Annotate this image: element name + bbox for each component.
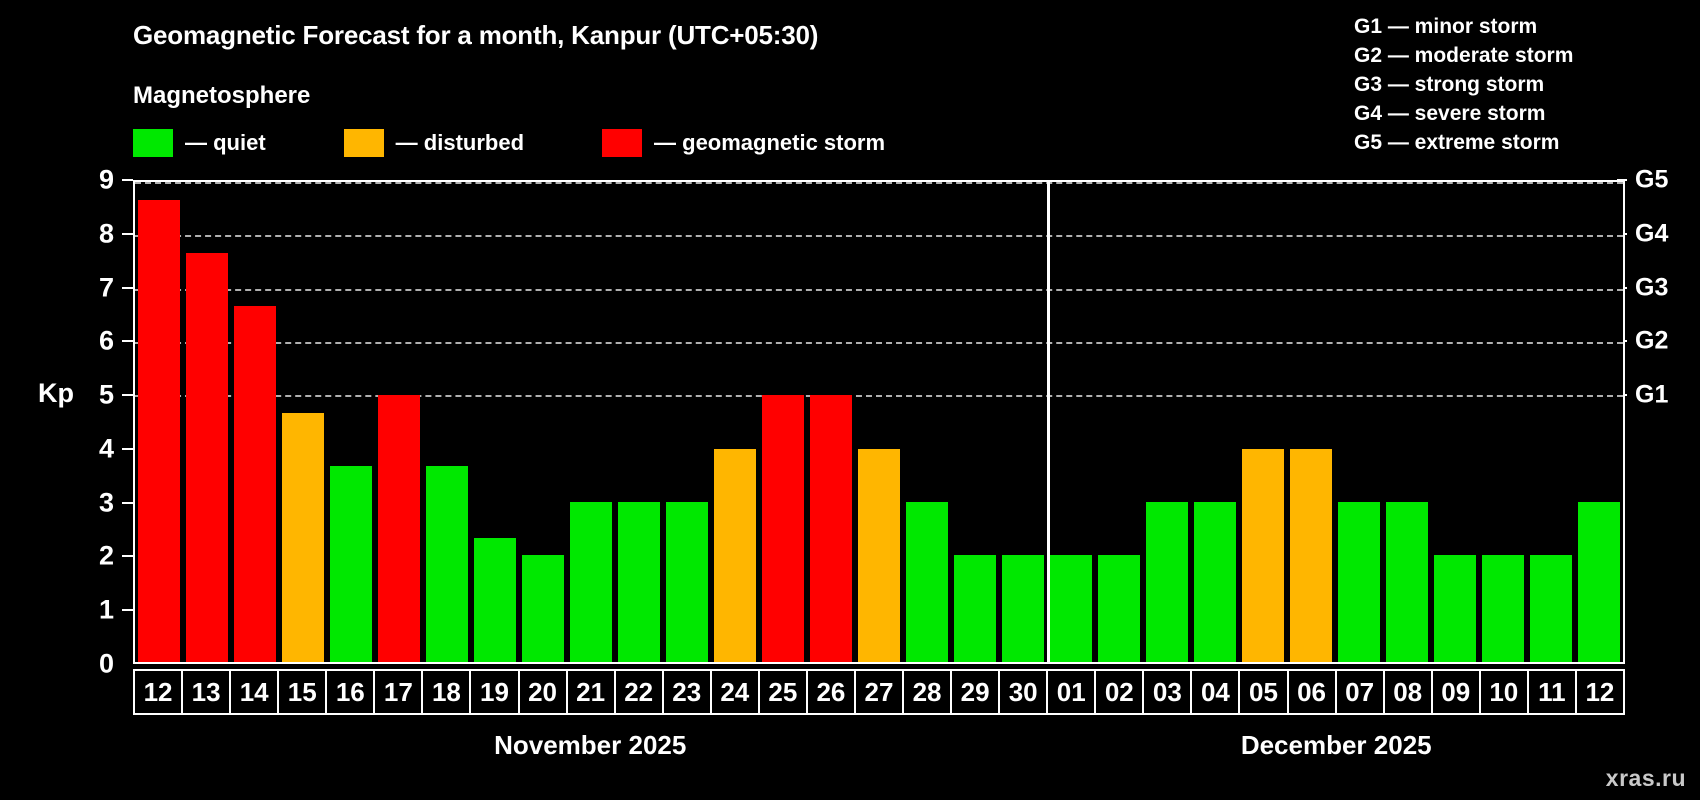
bar-day-23	[666, 502, 708, 662]
bar-slot	[327, 182, 375, 662]
day-label-15: 15	[277, 669, 327, 715]
y-tick-label-8: 8	[99, 220, 114, 247]
month-caption-1: November 2025	[494, 730, 686, 761]
g-tick-label-G5: G5	[1635, 168, 1668, 193]
day-label-09: 09	[1431, 669, 1481, 715]
bar-day-12	[138, 200, 180, 662]
bar-day-24	[714, 449, 756, 662]
quiet-legend-text: — quiet	[185, 130, 266, 156]
g-tick-label-G2: G2	[1635, 329, 1668, 354]
y-tick-mark-4	[122, 448, 133, 450]
bar-slot	[1527, 182, 1575, 662]
bar-slot	[999, 182, 1047, 662]
disturbed-legend-swatch-icon	[344, 129, 384, 157]
bar-day-09	[1434, 555, 1476, 662]
bar-day-16	[330, 466, 372, 662]
bar-slot	[951, 182, 999, 662]
disturbed-legend: — disturbed	[344, 129, 524, 157]
day-label-16: 16	[325, 669, 375, 715]
bar-day-21	[570, 502, 612, 662]
y-axis-title: Kp	[38, 378, 74, 409]
bar-slot	[807, 182, 855, 662]
color-legend: — quiet— disturbed— geomagnetic storm	[133, 128, 885, 158]
g-axis: G1G2G3G4G5	[1627, 180, 1687, 664]
quiet-legend: — quiet	[133, 129, 266, 157]
day-label-27: 27	[854, 669, 904, 715]
magnetosphere-label: Magnetosphere	[133, 82, 310, 110]
day-label-24: 24	[710, 669, 760, 715]
bar-slot	[1431, 182, 1479, 662]
day-label-30: 30	[998, 669, 1048, 715]
day-label-22: 22	[614, 669, 664, 715]
plot-area	[133, 180, 1625, 664]
bar-day-18	[426, 466, 468, 662]
bar-slot	[663, 182, 711, 662]
bar-slot	[903, 182, 951, 662]
day-label-19: 19	[469, 669, 519, 715]
day-label-26: 26	[806, 669, 856, 715]
storm-legend-swatch-icon	[602, 129, 642, 157]
day-label-12: 12	[1575, 669, 1625, 715]
bar-day-04	[1194, 502, 1236, 662]
bar-slot	[759, 182, 807, 662]
bar-slot	[1575, 182, 1623, 662]
g-tick-label-G3: G3	[1635, 275, 1668, 300]
bar-slot	[567, 182, 615, 662]
day-label-13: 13	[181, 669, 231, 715]
day-label-29: 29	[950, 669, 1000, 715]
bar-slot	[375, 182, 423, 662]
y-tick-label-3: 3	[99, 489, 114, 516]
day-label-08: 08	[1383, 669, 1433, 715]
bar-day-08	[1386, 502, 1428, 662]
bar-slot	[1047, 182, 1095, 662]
bar-day-10	[1482, 555, 1524, 662]
bars-layer	[135, 182, 1623, 662]
bar-slot	[519, 182, 567, 662]
bar-day-15	[282, 413, 324, 662]
g-tick-label-G1: G1	[1635, 383, 1668, 408]
day-label-07: 07	[1335, 669, 1385, 715]
day-label-12: 12	[133, 669, 183, 715]
day-label-04: 04	[1190, 669, 1240, 715]
bar-slot	[1335, 182, 1383, 662]
month-divider	[1047, 182, 1050, 662]
y-tick-label-7: 7	[99, 274, 114, 301]
g-scale-line-3: G3 — strong storm	[1354, 70, 1684, 99]
bar-day-11	[1530, 555, 1572, 662]
page-title: Geomagnetic Forecast for a month, Kanpur…	[133, 20, 818, 51]
day-label-20: 20	[518, 669, 568, 715]
y-tick-mark-7	[122, 287, 133, 289]
g-scale-line-5: G5 — extreme storm	[1354, 128, 1684, 157]
bar-day-12	[1578, 502, 1620, 662]
bar-day-28	[906, 502, 948, 662]
month-caption-2: December 2025	[1241, 730, 1432, 761]
g-tick-label-G4: G4	[1635, 221, 1668, 246]
bar-day-02	[1098, 555, 1140, 662]
y-tick-label-2: 2	[99, 543, 114, 570]
bar-day-29	[954, 555, 996, 662]
bar-slot	[1191, 182, 1239, 662]
day-label-18: 18	[421, 669, 471, 715]
bar-day-25	[762, 395, 804, 662]
g-scale-legend: G1 — minor stormG2 — moderate stormG3 — …	[1354, 12, 1684, 157]
y-tick-label-4: 4	[99, 435, 114, 462]
day-axis: 1213141516171819202122232425262728293001…	[133, 669, 1625, 715]
bar-day-30	[1002, 555, 1044, 662]
day-label-06: 06	[1287, 669, 1337, 715]
bar-slot	[1239, 182, 1287, 662]
day-label-28: 28	[902, 669, 952, 715]
y-tick-label-6: 6	[99, 328, 114, 355]
y-tick-mark-9	[122, 179, 133, 181]
bar-day-05	[1242, 449, 1284, 662]
bar-slot	[471, 182, 519, 662]
g-scale-line-2: G2 — moderate storm	[1354, 41, 1684, 70]
day-label-21: 21	[566, 669, 616, 715]
day-label-01: 01	[1046, 669, 1096, 715]
bar-slot	[1287, 182, 1335, 662]
day-label-11: 11	[1527, 669, 1577, 715]
disturbed-legend-text: — disturbed	[396, 130, 524, 156]
plot-inner	[135, 182, 1623, 662]
bar-slot	[183, 182, 231, 662]
day-label-03: 03	[1142, 669, 1192, 715]
bar-slot	[1479, 182, 1527, 662]
day-label-25: 25	[758, 669, 808, 715]
bar-slot	[231, 182, 279, 662]
day-label-14: 14	[229, 669, 279, 715]
y-tick-mark-2	[122, 555, 133, 557]
y-tick-mark-3	[122, 502, 133, 504]
g-scale-line-4: G4 — severe storm	[1354, 99, 1684, 128]
bar-slot	[1143, 182, 1191, 662]
day-label-05: 05	[1238, 669, 1288, 715]
y-tick-label-0: 0	[99, 651, 114, 678]
storm-legend: — geomagnetic storm	[602, 129, 885, 157]
quiet-legend-swatch-icon	[133, 129, 173, 157]
bar-day-07	[1338, 502, 1380, 662]
bar-day-13	[186, 253, 228, 662]
bar-day-01	[1050, 555, 1092, 662]
bar-day-27	[858, 449, 900, 662]
day-label-10: 10	[1479, 669, 1529, 715]
y-tick-label-5: 5	[99, 382, 114, 409]
bar-day-17	[378, 395, 420, 662]
bar-slot	[423, 182, 471, 662]
bar-slot	[615, 182, 663, 662]
bar-day-20	[522, 555, 564, 662]
bar-day-14	[234, 306, 276, 662]
month-captions: November 2025December 2025	[133, 730, 1625, 770]
bar-slot	[1383, 182, 1431, 662]
bar-slot	[855, 182, 903, 662]
bar-day-03	[1146, 502, 1188, 662]
bar-slot	[711, 182, 759, 662]
y-axis: 0123456789	[70, 180, 122, 664]
y-tick-mark-6	[122, 340, 133, 342]
day-label-02: 02	[1094, 669, 1144, 715]
g-scale-line-1: G1 — minor storm	[1354, 12, 1684, 41]
y-tick-mark-8	[122, 233, 133, 235]
bar-day-19	[474, 538, 516, 662]
bar-slot	[135, 182, 183, 662]
watermark: xras.ru	[1606, 765, 1686, 792]
bar-day-26	[810, 395, 852, 662]
y-tick-mark-1	[122, 609, 133, 611]
bar-day-22	[618, 502, 660, 662]
y-tick-mark-5	[122, 394, 133, 396]
y-tick-label-9: 9	[99, 167, 114, 194]
day-label-23: 23	[662, 669, 712, 715]
y-tick-label-1: 1	[99, 597, 114, 624]
bar-slot	[1095, 182, 1143, 662]
storm-legend-text: — geomagnetic storm	[654, 130, 885, 156]
bar-day-06	[1290, 449, 1332, 662]
day-label-17: 17	[373, 669, 423, 715]
bar-slot	[279, 182, 327, 662]
